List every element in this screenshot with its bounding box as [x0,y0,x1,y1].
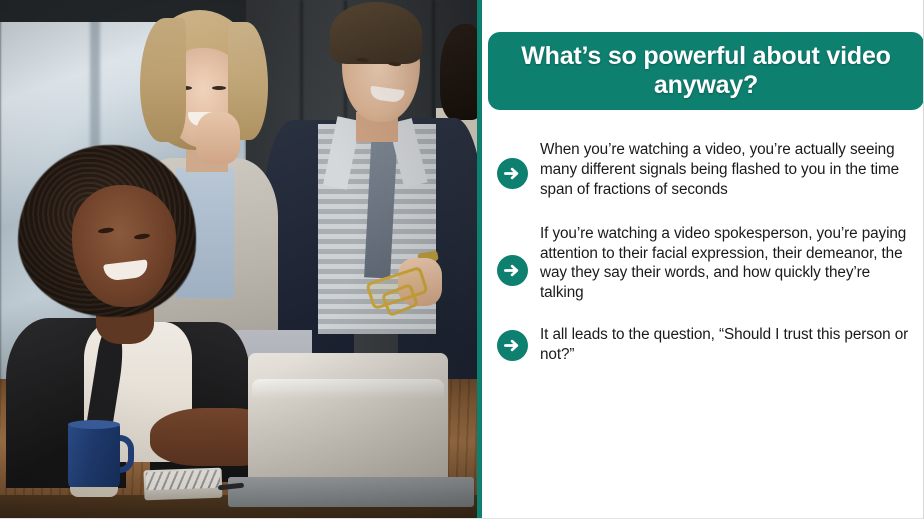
bullet-list: When you’re watching a video, you’re act… [497,140,917,391]
arrow-right-circle-icon [497,158,528,189]
office-team-photo [0,0,478,519]
list-item-text: It all leads to the question, “Should I … [540,325,917,365]
title-banner: What’s so powerful about video anyway? [488,32,924,110]
list-item-text: When you’re watching a video, you’re act… [540,140,917,200]
content-panel: What’s so powerful about video anyway? W… [482,0,924,519]
list-item: It all leads to the question, “Should I … [497,325,917,365]
arrow-right-circle-icon [497,255,528,286]
list-item-text: If you’re watching a video spokesperson,… [540,224,917,304]
slide-root: What’s so powerful about video anyway? W… [0,0,924,519]
photo-vignette [0,0,478,519]
list-item: When you’re watching a video, you’re act… [497,140,917,200]
arrow-right-circle-icon [497,330,528,361]
slide-title: What’s so powerful about video anyway? [506,42,906,101]
list-item: If you’re watching a video spokesperson,… [497,224,917,304]
